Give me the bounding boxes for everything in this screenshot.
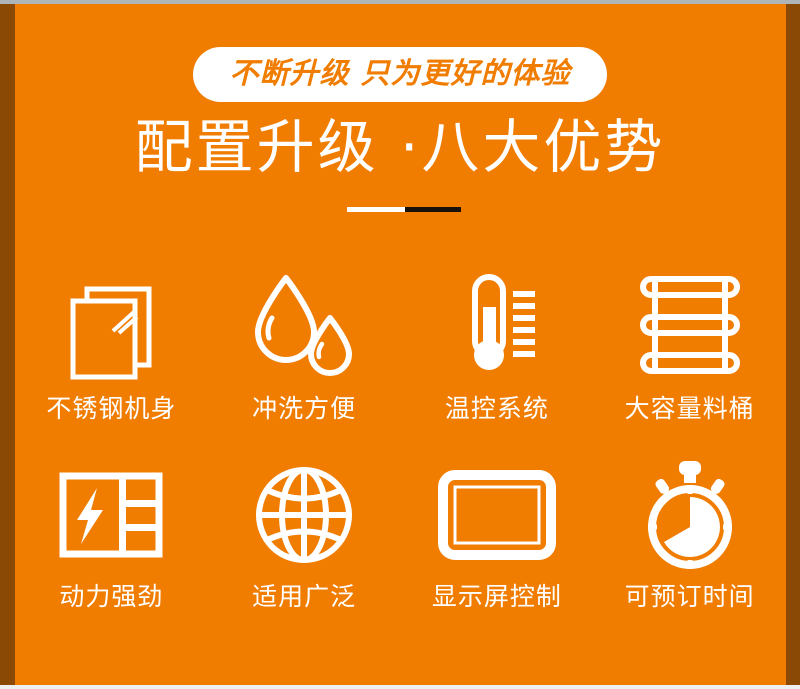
tagline-pill: 不断升级 只为更好的体验 <box>193 47 606 102</box>
promo-banner-page: 不断升级 只为更好的体验 配置升级 ·八大优势 不锈钢机身 <box>0 0 800 689</box>
globe-icon <box>254 455 354 575</box>
feature-item-power: 动力强劲 <box>15 455 208 635</box>
feature-item-rinse: 冲洗方便 <box>208 262 401 447</box>
power-lightning-icon <box>59 455 163 575</box>
feature-item-timer: 可预订时间 <box>593 455 786 635</box>
tagline-text: 不断升级 只为更好的体验 <box>229 56 570 90</box>
feature-item-universal: 适用广泛 <box>208 455 401 635</box>
feature-label: 可预订时间 <box>625 581 755 613</box>
feature-item-display: 显示屏控制 <box>401 455 594 635</box>
feature-label: 大容量料桶 <box>625 393 755 425</box>
stainless-panels-icon <box>57 262 165 387</box>
feature-label: 温控系统 <box>445 393 549 425</box>
thermometer-icon <box>447 262 547 387</box>
top-edge-strip <box>0 0 800 4</box>
stopwatch-icon <box>638 455 742 575</box>
feature-label: 适用广泛 <box>252 581 356 613</box>
display-screen-icon <box>439 455 555 575</box>
right-edge-strip <box>786 4 800 685</box>
water-droplets-icon <box>250 262 358 387</box>
divider-dark-half <box>405 207 461 212</box>
divider-light-half <box>347 207 405 212</box>
bottom-edge-strip <box>0 685 800 689</box>
feature-label: 动力强劲 <box>59 581 163 613</box>
feature-item-barrel: 大容量料桶 <box>593 262 786 447</box>
feature-item-stainless: 不锈钢机身 <box>15 262 208 447</box>
feature-item-temperature: 温控系统 <box>401 262 594 447</box>
feature-label: 冲洗方便 <box>252 393 356 425</box>
feature-label: 不锈钢机身 <box>46 393 176 425</box>
page-title: 配置升级 ·八大优势 <box>0 110 800 184</box>
heading-divider <box>347 207 461 212</box>
barrel-icon <box>635 262 745 387</box>
feature-label: 显示屏控制 <box>432 581 562 613</box>
feature-grid: 不锈钢机身 冲洗方便 <box>15 262 786 635</box>
left-edge-strip <box>0 4 15 685</box>
tagline-pill-wrapper: 不断升级 只为更好的体验 <box>0 47 800 102</box>
